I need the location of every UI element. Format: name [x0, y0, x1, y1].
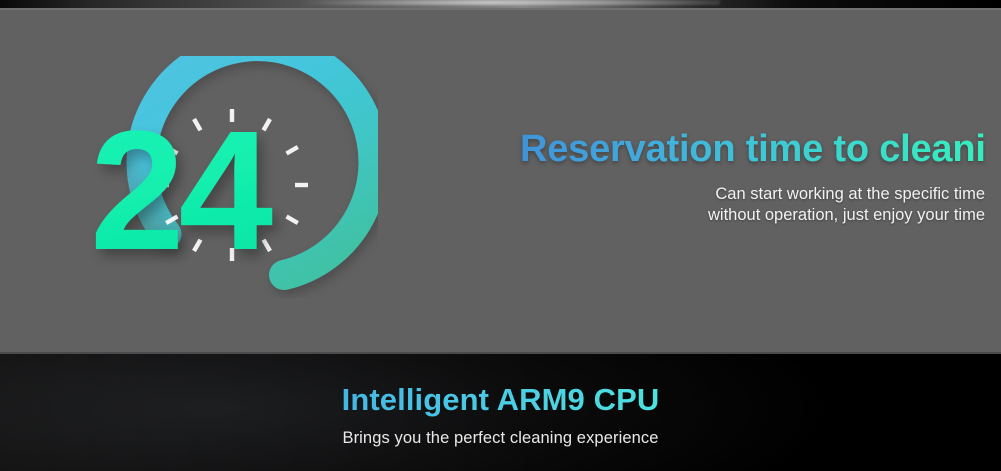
panel-edge-sliver	[0, 0, 1001, 8]
reservation-subtitle-line-2: without operation, just enjoy your time	[520, 205, 985, 227]
reservation-copy-block: Reservation time to cleaning Can start w…	[520, 128, 985, 227]
clock-numerals: 24	[90, 96, 273, 286]
24-hour-clock-icon: 24	[88, 56, 378, 306]
panel-top-edge	[0, 8, 1001, 10]
reservation-subtitle-line-1: Can start working at the specific time	[520, 184, 985, 206]
reservation-subtitle: Can start working at the specific time w…	[520, 184, 985, 228]
cpu-copy-block: Intelligent ARM9 CPU Brings you the perf…	[0, 382, 1001, 448]
cpu-feature-panel: Intelligent ARM9 CPU Brings you the perf…	[0, 354, 1001, 471]
product-feature-banner: 24 Reservation time to cleaning Can star…	[0, 0, 1001, 471]
sliver-highlight	[300, 0, 720, 5]
svg-text:24: 24	[90, 96, 273, 286]
reservation-feature-panel: 24 Reservation time to cleaning Can star…	[0, 8, 1001, 354]
cpu-subtitle: Brings you the perfect cleaning experien…	[0, 429, 1001, 448]
reservation-headline: Reservation time to cleaning	[520, 128, 985, 172]
cpu-title: Intelligent ARM9 CPU	[0, 382, 1001, 418]
